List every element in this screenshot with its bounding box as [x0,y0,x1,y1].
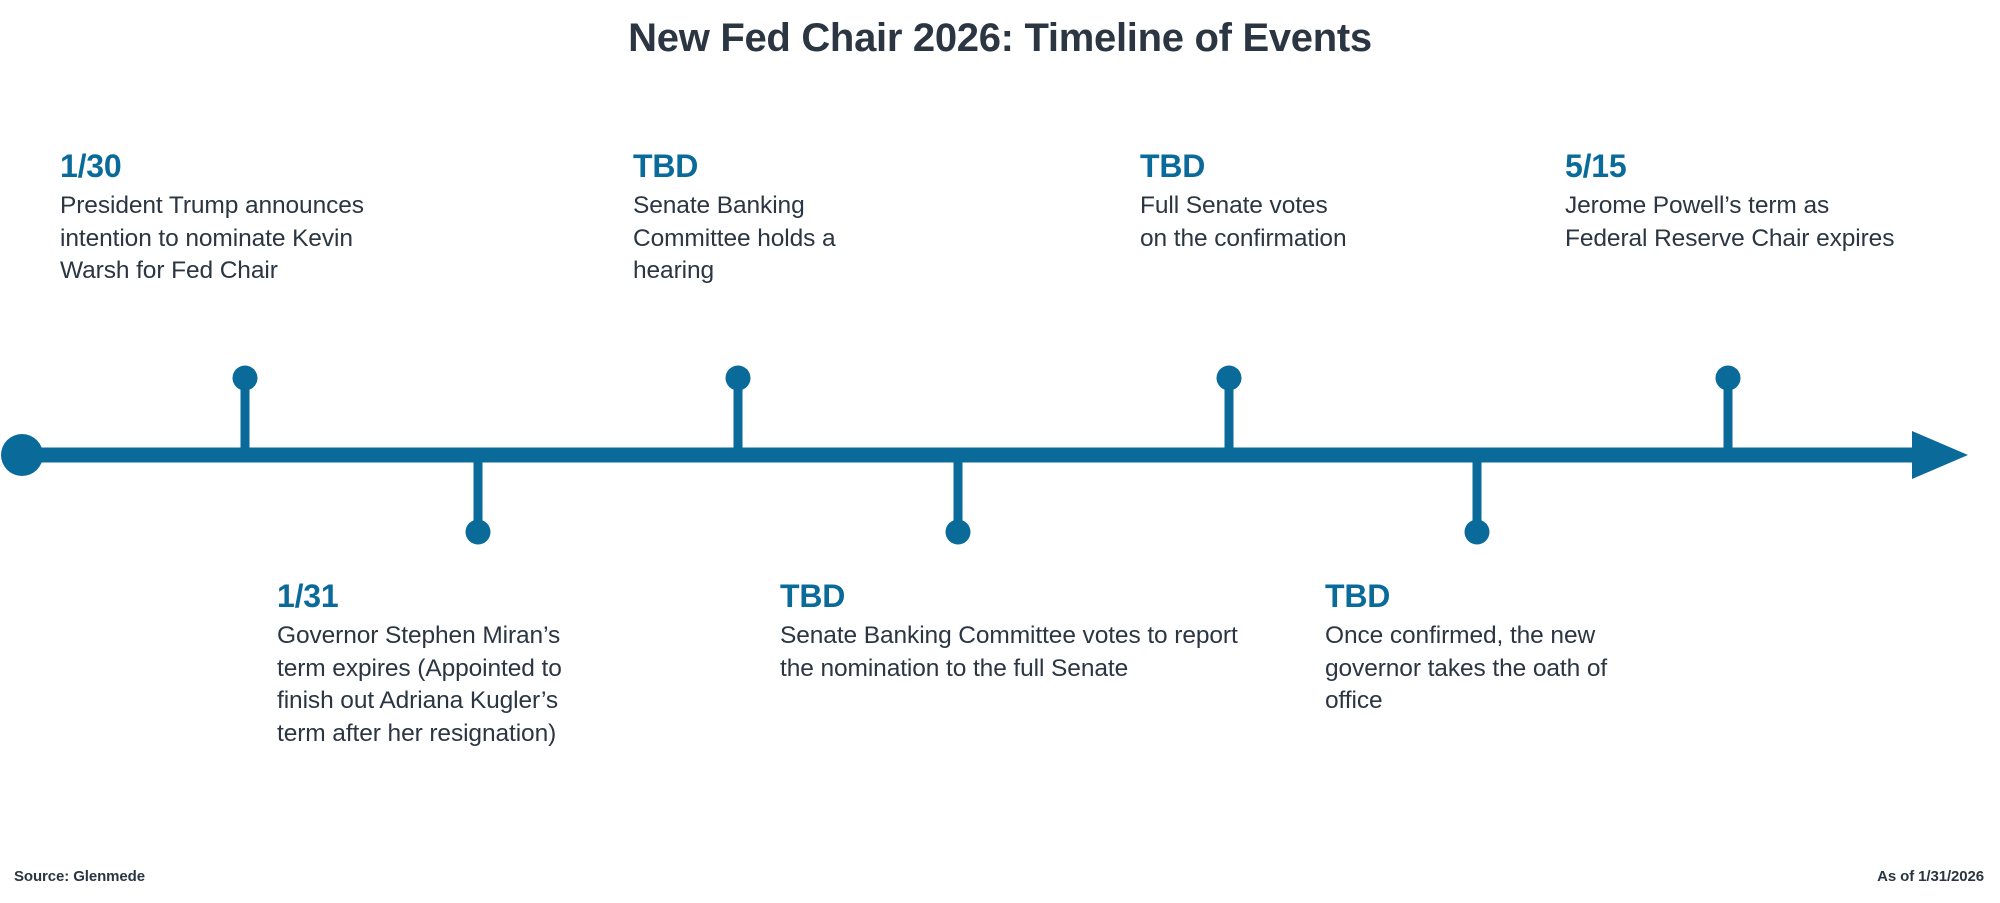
source-note: Source: Glenmede [14,868,145,885]
timeline-marker-above-4 [1716,366,1741,459]
timeline-event-above-3: TBD Full Senate votes on the confirmatio… [1140,150,1355,255]
event-date: 1/31 [277,580,607,612]
as-of-note: As of 1/31/2026 [1877,868,1984,885]
timeline-event-below-3: TBD Once confirmed, the new governor tak… [1325,580,1655,718]
event-description: President Trump announces intention to n… [60,190,420,288]
event-date: TBD [1325,580,1655,612]
timeline-marker-above-3 [1217,366,1242,459]
event-date: TBD [1140,150,1355,182]
timeline-infographic: New Fed Chair 2026: Timeline of Events [0,0,2000,903]
event-description: Senate Banking Committee holds a hearing [633,190,883,288]
timeline-marker-below-1 [466,452,491,545]
event-date: TBD [780,580,1240,612]
timeline-arrow-icon [1912,431,1968,479]
page-title: New Fed Chair 2026: Timeline of Events [0,14,2000,62]
timeline-marker-above-1 [233,366,258,459]
event-description: Full Senate votes on the confirmation [1140,190,1355,255]
event-date: 5/15 [1565,150,1905,182]
event-description: Jerome Powell’s term as Federal Reserve … [1565,190,1905,255]
timeline-axis [0,330,2000,600]
timeline-event-above-2: TBD Senate Banking Committee holds a hea… [633,150,883,288]
timeline-event-above-1: 1/30 President Trump announces intention… [60,150,420,288]
timeline-marker-above-2 [726,366,751,459]
timeline-event-below-2: TBD Senate Banking Committee votes to re… [780,580,1240,685]
event-date: 1/30 [60,150,420,182]
timeline-marker-below-2 [946,452,971,545]
event-description: Once confirmed, the new governor takes t… [1325,620,1655,718]
event-description: Senate Banking Committee votes to report… [780,620,1240,685]
timeline-event-below-1: 1/31 Governor Stephen Miran’s term expir… [277,580,607,750]
timeline-start-dot [1,434,43,476]
event-date: TBD [633,150,883,182]
event-description: Governor Stephen Miran’s term expires (A… [277,620,607,750]
timeline-event-above-4: 5/15 Jerome Powell’s term as Federal Res… [1565,150,1905,255]
timeline-marker-below-3 [1465,452,1490,545]
